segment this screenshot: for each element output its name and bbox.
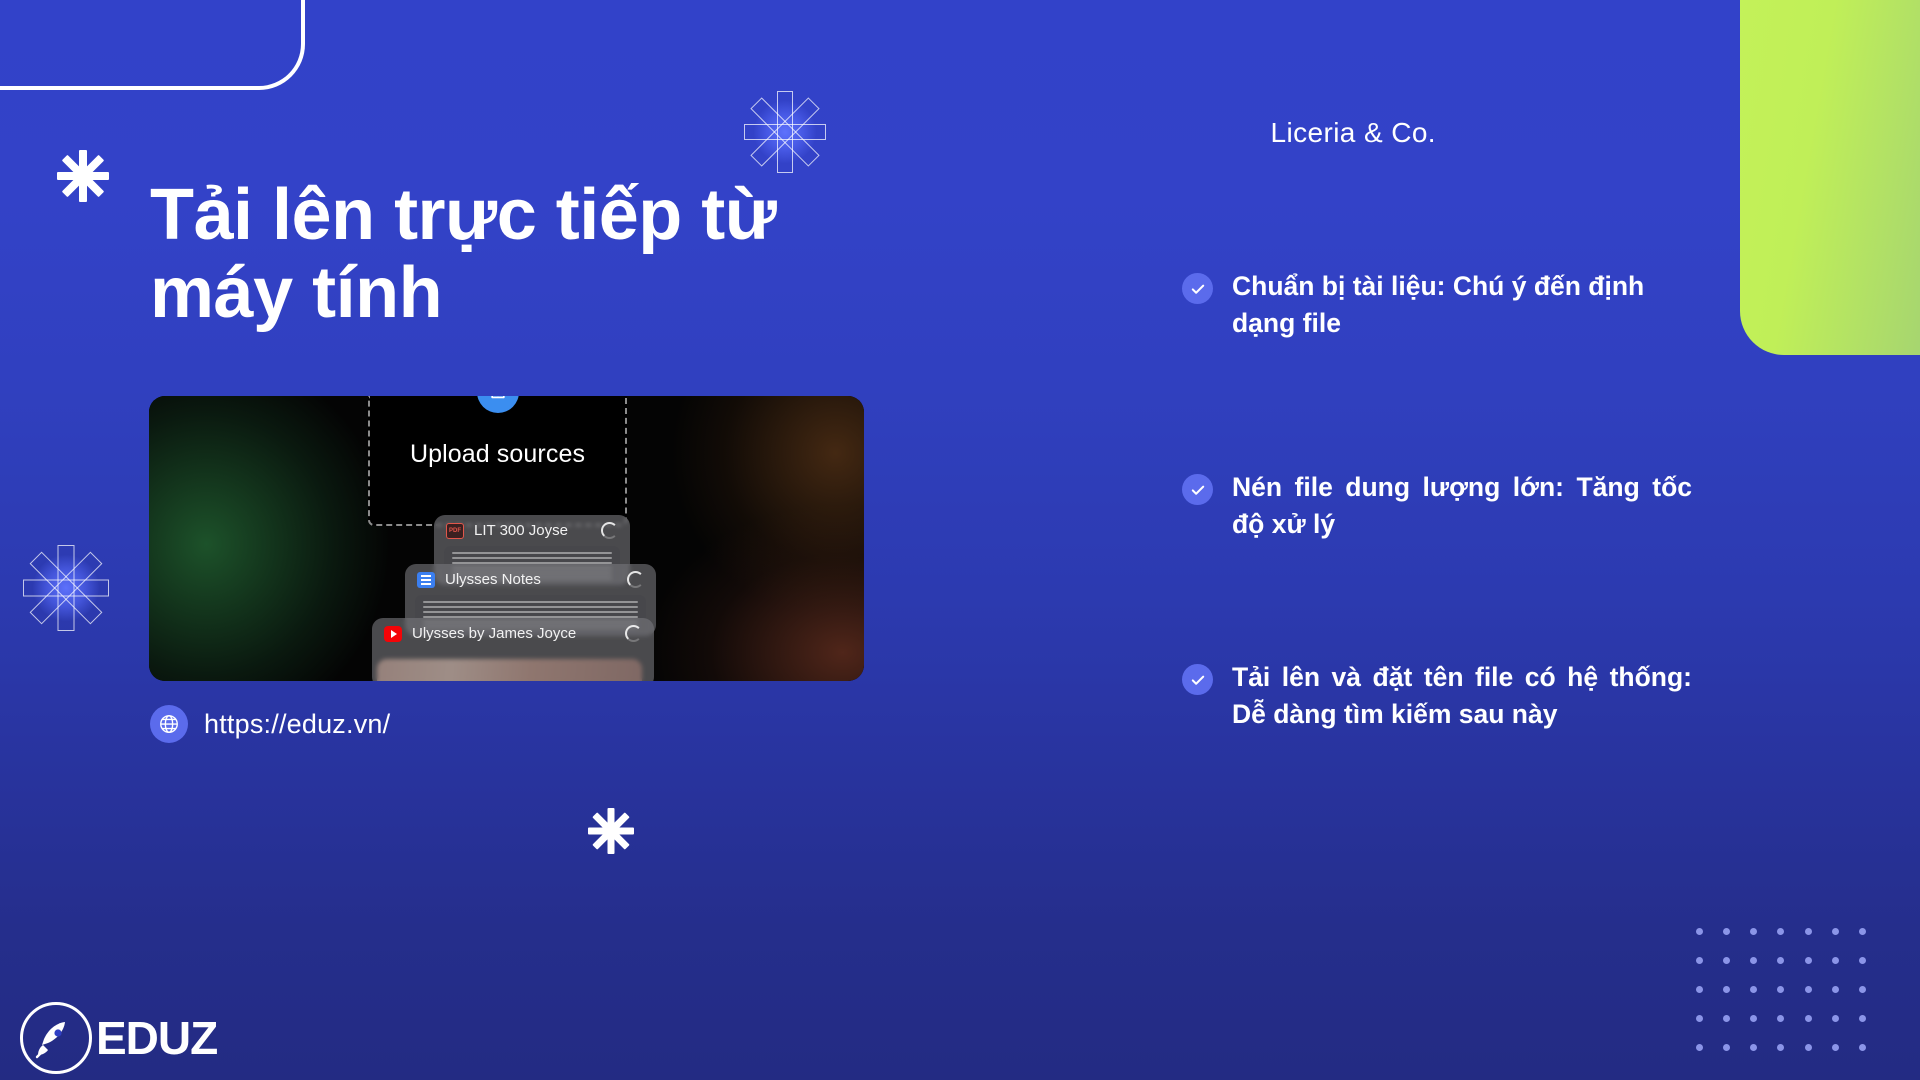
- grid-dot: [1805, 1015, 1812, 1022]
- grid-dot: [1805, 986, 1812, 993]
- grid-dot: [1832, 928, 1839, 935]
- grid-dot: [1750, 928, 1757, 935]
- star-spoke: [58, 545, 75, 631]
- star-spoke: [750, 97, 819, 166]
- star-spoke: [30, 552, 103, 625]
- star-spoke: [608, 808, 615, 854]
- grid-dot: [1777, 957, 1784, 964]
- file-card-header: PDF LIT 300 Joyse: [434, 515, 630, 546]
- grid-dot: [1859, 1044, 1866, 1051]
- grid-dot: [1723, 928, 1730, 935]
- file-name: Ulysses Notes: [445, 571, 617, 588]
- outlined-star-icon: [22, 544, 110, 632]
- grid-dot: [1859, 928, 1866, 935]
- grid-dot: [1805, 928, 1812, 935]
- star-spoke: [62, 155, 104, 197]
- grid-dot: [1832, 1015, 1839, 1022]
- list-item: Tải lên và đặt tên file có hệ thống: Dễ …: [1182, 659, 1692, 732]
- grid-dot: [1723, 957, 1730, 964]
- list-item-label: Nén file dung lượng lớn: Tăng tốc độ xử …: [1232, 469, 1692, 542]
- star-spoke: [744, 124, 826, 140]
- grid-dot: [1832, 986, 1839, 993]
- text-line: [423, 601, 638, 603]
- star-spoke: [79, 150, 87, 202]
- grid-dot: [1723, 1015, 1730, 1022]
- dot-grid-icon: [1686, 917, 1876, 1062]
- rounded-rect-outline-shape: [0, 0, 305, 90]
- grid-dot: [1696, 1044, 1703, 1051]
- text-line: [423, 611, 638, 613]
- list-item-label: Tải lên và đặt tên file có hệ thống: Dễ …: [1232, 659, 1692, 732]
- rocket-icon: [20, 1002, 92, 1074]
- check-circle-icon: [1182, 474, 1213, 505]
- grid-dot: [1859, 986, 1866, 993]
- file-name: Ulysses by James Joyce: [412, 625, 615, 642]
- file-card-header: Ulysses by James Joyce: [372, 618, 654, 649]
- grid-dot: [1723, 986, 1730, 993]
- list-item: Chuẩn bị tài liệu: Chú ý đến định dạng f…: [1182, 268, 1692, 341]
- asterisk-star-icon: [55, 148, 111, 204]
- grid-dot: [1777, 1044, 1784, 1051]
- list-item-label: Chuẩn bị tài liệu: Chú ý đến định dạng f…: [1232, 268, 1692, 341]
- globe-icon: [150, 705, 188, 743]
- upload-dropzone[interactable]: Upload sources: [368, 396, 627, 526]
- grid-dot: [1696, 1015, 1703, 1022]
- grid-dot: [1805, 957, 1812, 964]
- star-glow: [754, 101, 816, 163]
- website-url-row[interactable]: https://eduz.vn/: [150, 705, 390, 743]
- grid-dot: [1859, 957, 1866, 964]
- grid-dot: [1859, 1015, 1866, 1022]
- grid-dot: [1805, 1044, 1812, 1051]
- check-circle-icon: [1182, 273, 1213, 304]
- brand-name: Liceria & Co.: [1271, 117, 1437, 149]
- slide-canvas: Liceria & Co. Tải lên trực tiếp từ máy t…: [0, 0, 1920, 1080]
- outlined-star-icon: [743, 90, 827, 174]
- upload-label: Upload sources: [370, 440, 625, 469]
- upload-screenshot-card: Upload sources PDF LIT 300 Joyse Ulysses…: [149, 396, 864, 681]
- grid-dot: [1777, 986, 1784, 993]
- star-spoke: [57, 172, 109, 180]
- check-circle-icon: [1182, 664, 1213, 695]
- loading-spinner-icon: [627, 571, 644, 588]
- file-card-header: Ulysses Notes: [405, 564, 656, 595]
- grid-dot: [1832, 1044, 1839, 1051]
- star-glow: [33, 555, 99, 621]
- list-item: Nén file dung lượng lớn: Tăng tốc độ xử …: [1182, 469, 1692, 542]
- pdf-file-icon: PDF: [446, 523, 464, 539]
- star-spoke: [30, 552, 103, 625]
- grid-dot: [1696, 928, 1703, 935]
- rounded-rect-shape: [1740, 0, 1920, 355]
- grid-dot: [1750, 986, 1757, 993]
- file-name: LIT 300 Joyse: [474, 522, 591, 539]
- star-spoke: [592, 812, 629, 849]
- loading-spinner-icon: [601, 522, 618, 539]
- grid-dot: [1696, 986, 1703, 993]
- text-line: [452, 557, 612, 559]
- grid-dot: [1832, 957, 1839, 964]
- grid-dot: [1723, 1044, 1730, 1051]
- text-line: [452, 552, 612, 554]
- upload-arrow-icon[interactable]: [477, 396, 519, 413]
- youtube-icon: [384, 626, 402, 642]
- star-spoke: [777, 91, 793, 173]
- bullet-list: Chuẩn bị tài liệu: Chú ý đến định dạng f…: [1182, 268, 1692, 732]
- asterisk-star-icon: [586, 806, 636, 856]
- star-spoke: [750, 97, 819, 166]
- grid-dot: [1777, 1015, 1784, 1022]
- grid-dot: [1750, 1015, 1757, 1022]
- star-spoke: [592, 812, 629, 849]
- star-spoke: [62, 155, 104, 197]
- grid-dot: [1750, 957, 1757, 964]
- file-card[interactable]: Ulysses by James Joyce: [372, 618, 654, 681]
- star-spoke: [23, 580, 109, 597]
- page-title: Tải lên trực tiếp từ máy tính: [150, 176, 850, 333]
- grid-dot: [1750, 1044, 1757, 1051]
- grid-dot: [1696, 957, 1703, 964]
- star-spoke: [588, 828, 634, 835]
- text-line: [423, 606, 638, 608]
- google-docs-icon: [417, 572, 435, 588]
- brand-logo: EDUZ: [20, 1002, 217, 1074]
- brand-logo-text: EDUZ: [96, 1011, 217, 1065]
- loading-spinner-icon: [625, 625, 642, 642]
- grid-dot: [1777, 928, 1784, 935]
- url-text[interactable]: https://eduz.vn/: [204, 709, 390, 740]
